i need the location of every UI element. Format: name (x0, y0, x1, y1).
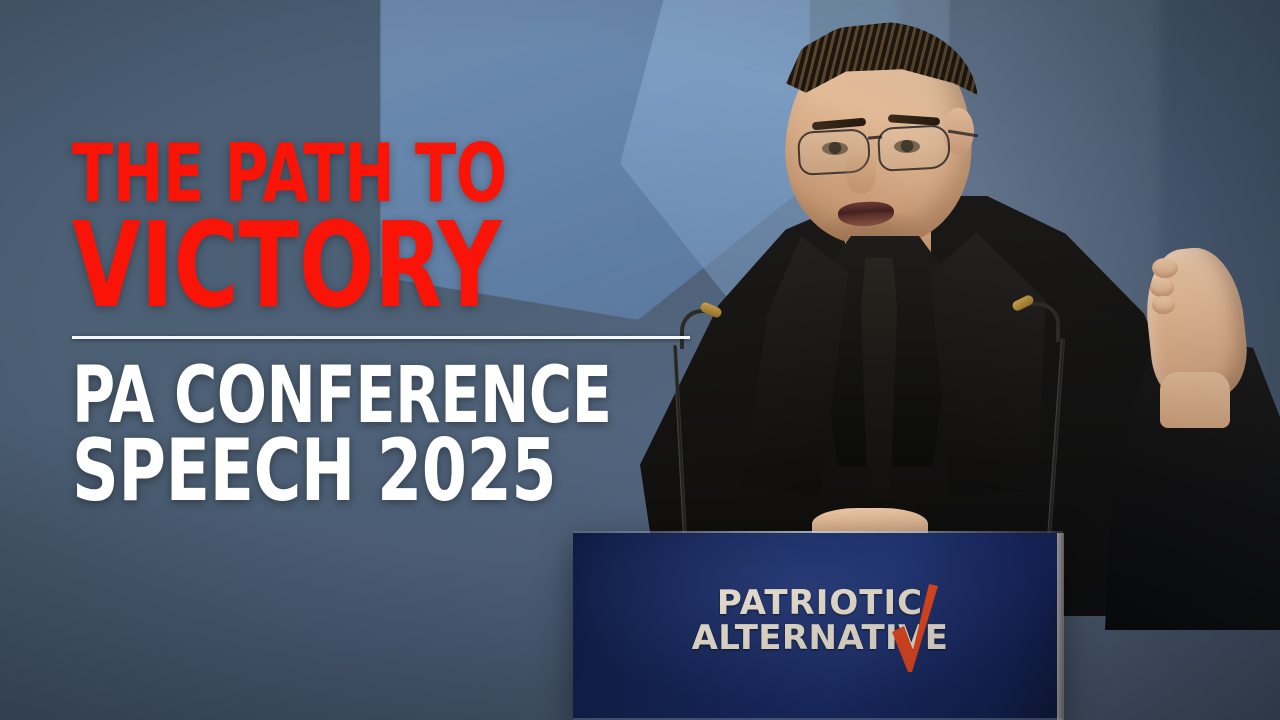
title-overlay: THE PATH TO VICTORY PA CONFERENCE SPEECH… (72, 138, 712, 511)
title-line-2: VICTORY (72, 212, 610, 318)
video-thumbnail: PATRIOTIC ALTERNATIVE THE PATH TO VICTOR… (0, 0, 1280, 720)
title-divider (72, 336, 690, 339)
title-line-4: SPEECH 2025 (72, 433, 610, 510)
